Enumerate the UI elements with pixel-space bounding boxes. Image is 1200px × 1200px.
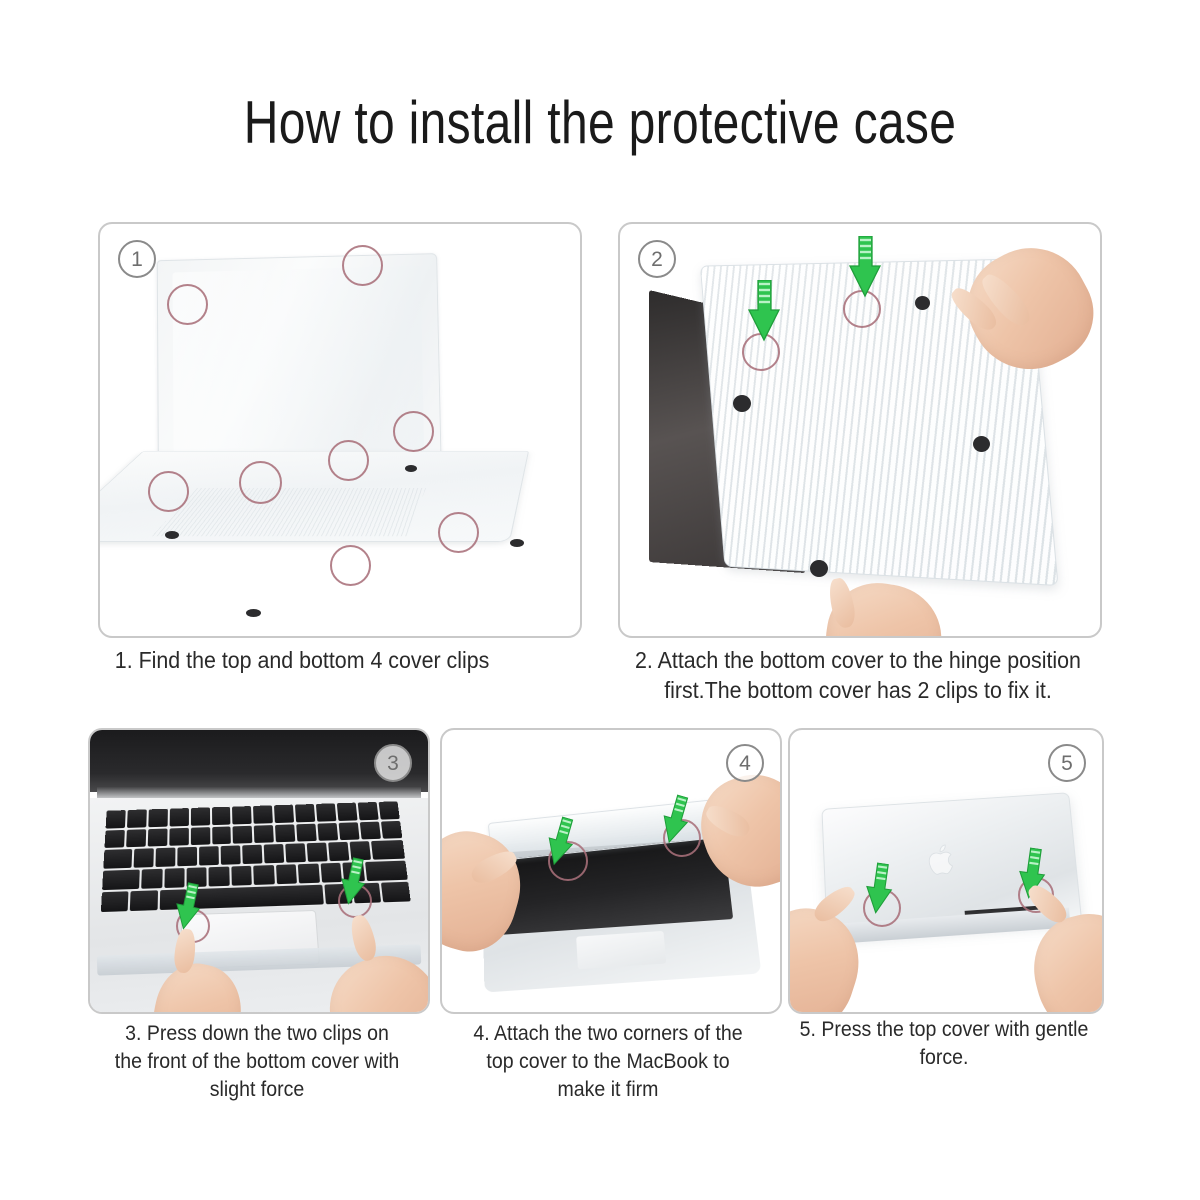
- step-3-caption-line-1: 3. Press down the two clips on: [92, 1020, 421, 1048]
- case-vent-stripes: [152, 488, 427, 537]
- step-2-caption: 2. Attach the bottom cover to the hinge …: [626, 645, 1091, 705]
- step-panel-2: 2: [618, 222, 1102, 638]
- step-number-badge-3: 3: [374, 744, 412, 782]
- step-3-caption-line-2: the front of the bottom cover with: [92, 1048, 421, 1076]
- step-5-caption-line-1: 5. Press the top cover with gentle: [790, 1016, 1099, 1044]
- rubber-foot: [973, 436, 990, 452]
- step-5-caption-line-2: force.: [790, 1044, 1099, 1072]
- step-4-caption-line-2: top cover to the MacBook to: [442, 1048, 773, 1076]
- highlight-circle-icon: [167, 284, 208, 325]
- apple-logo-icon: [926, 842, 958, 878]
- step-3-caption: 3. Press down the two clips on the front…: [92, 1020, 421, 1104]
- step-2-caption-line-1: 2. Attach the bottom cover to the hinge …: [626, 645, 1091, 675]
- rubber-foot: [405, 465, 417, 472]
- step-4-caption: 4. Attach the two corners of the top cov…: [442, 1020, 773, 1104]
- highlight-circle-icon: [393, 411, 434, 452]
- step-2-caption-line-2: first.The bottom cover has 2 clips to fi…: [626, 675, 1091, 705]
- arrow-down-icon: [747, 280, 781, 342]
- trackpad: [576, 931, 666, 969]
- step-2-photo: [620, 224, 1100, 636]
- step-panel-1: 1: [98, 222, 582, 638]
- step-5-caption: 5. Press the top cover with gentle force…: [790, 1016, 1099, 1072]
- step-1-photo: [100, 224, 580, 636]
- step-number-badge-1: 1: [118, 240, 156, 278]
- step-4-caption-line-3: make it firm: [442, 1076, 773, 1104]
- step-3-caption-line-3: slight force: [92, 1076, 421, 1104]
- highlight-circle-icon: [330, 545, 371, 586]
- highlight-circle-icon: [148, 471, 189, 512]
- step-4-caption-line-1: 4. Attach the two corners of the: [442, 1020, 773, 1048]
- rubber-foot: [246, 609, 261, 617]
- rubber-foot: [165, 531, 179, 539]
- arrow-down-icon: [848, 236, 882, 298]
- step-panel-4: 4: [440, 728, 782, 1014]
- highlight-circle-icon: [328, 440, 369, 481]
- rubber-foot: [810, 560, 828, 577]
- page-title: How to install the protective case: [120, 88, 1080, 158]
- step-number-badge-2: 2: [638, 240, 676, 278]
- step-1-caption: 1. Find the top and bottom 4 cover clips: [115, 645, 561, 675]
- step-panel-5: 5: [788, 728, 1104, 1014]
- highlight-circle-icon: [342, 245, 383, 286]
- highlight-circle-icon: [239, 461, 282, 504]
- step-number-badge-5: 5: [1048, 744, 1086, 782]
- highlight-circle-icon: [438, 512, 479, 553]
- rubber-foot: [733, 395, 751, 412]
- step-panel-3: 3: [88, 728, 430, 1014]
- rubber-foot: [510, 539, 524, 547]
- step-number-badge-4: 4: [726, 744, 764, 782]
